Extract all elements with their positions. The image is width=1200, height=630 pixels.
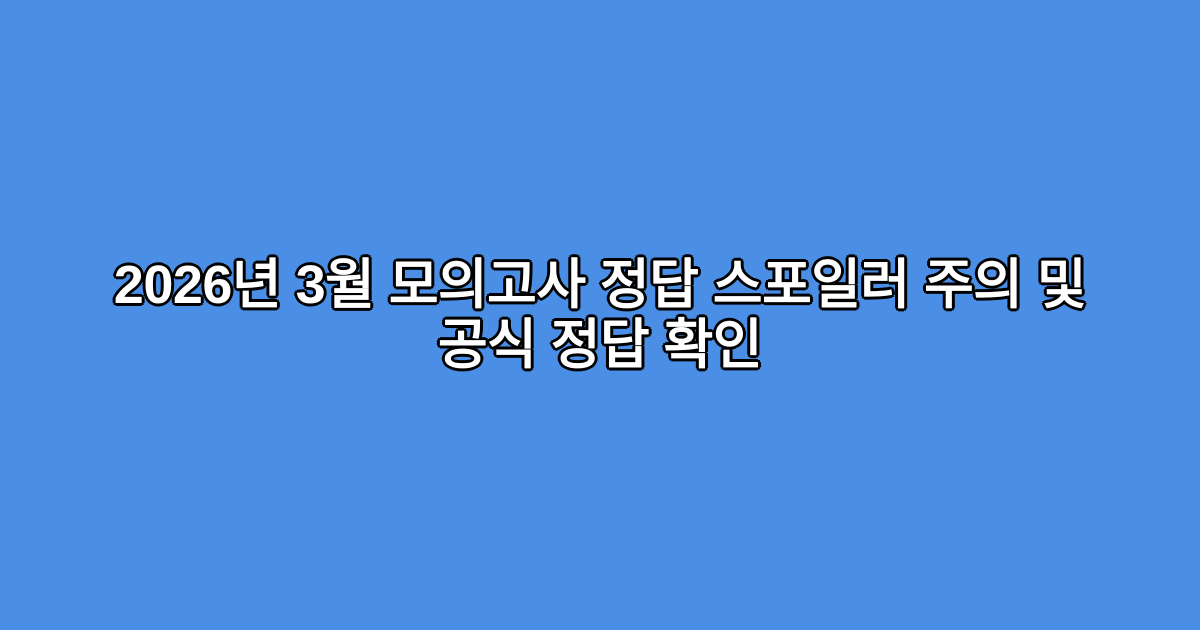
social-card: 2026년 3월 모의고사 정답 스포일러 주의 및 공식 정답 확인 — [0, 0, 1200, 630]
page-title: 2026년 3월 모의고사 정답 스포일러 주의 및 공식 정답 확인 — [72, 255, 1128, 375]
